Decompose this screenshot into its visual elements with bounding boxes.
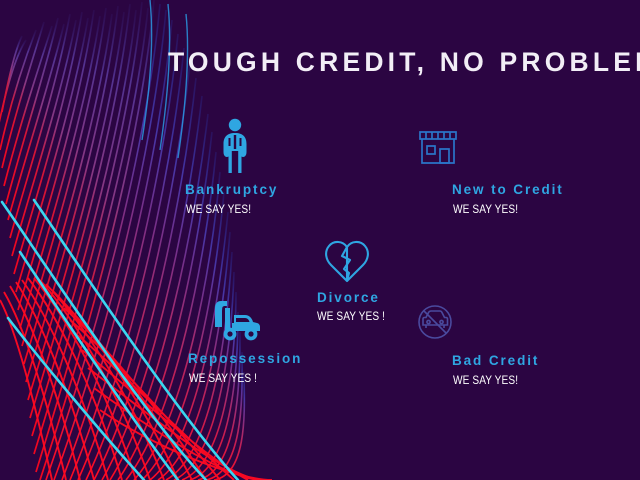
page-title: TOUGH CREDIT, NO PROBLEM [168,47,608,78]
feature-label-repossession: Repossession [188,351,302,366]
feature-sub-new-to-credit: WE SAY YES! [453,204,518,216]
feature-sub-bad-credit: WE SAY YES! [453,375,518,387]
feature-label-bankruptcy: Bankruptcy [185,182,278,197]
feature-label-divorce: Divorce [317,290,380,305]
feature-sub-divorce: WE SAY YES ! [317,311,385,323]
person-empty-pockets-icon [218,118,252,174]
feature-sub-repossession: WE SAY YES ! [189,373,257,385]
promo-poster: TOUGH CREDIT, NO PROBLEM Bankruptcy WE S… [0,0,640,480]
feature-label-new-to-credit: New to Credit [452,182,564,197]
broken-heart-icon [323,239,371,285]
feature-sub-bankruptcy: WE SAY YES! [186,204,251,216]
tow-truck-icon [212,297,262,343]
no-car-icon [414,301,456,343]
feature-label-bad-credit: Bad Credit [452,353,539,368]
storefront-icon [416,125,460,169]
